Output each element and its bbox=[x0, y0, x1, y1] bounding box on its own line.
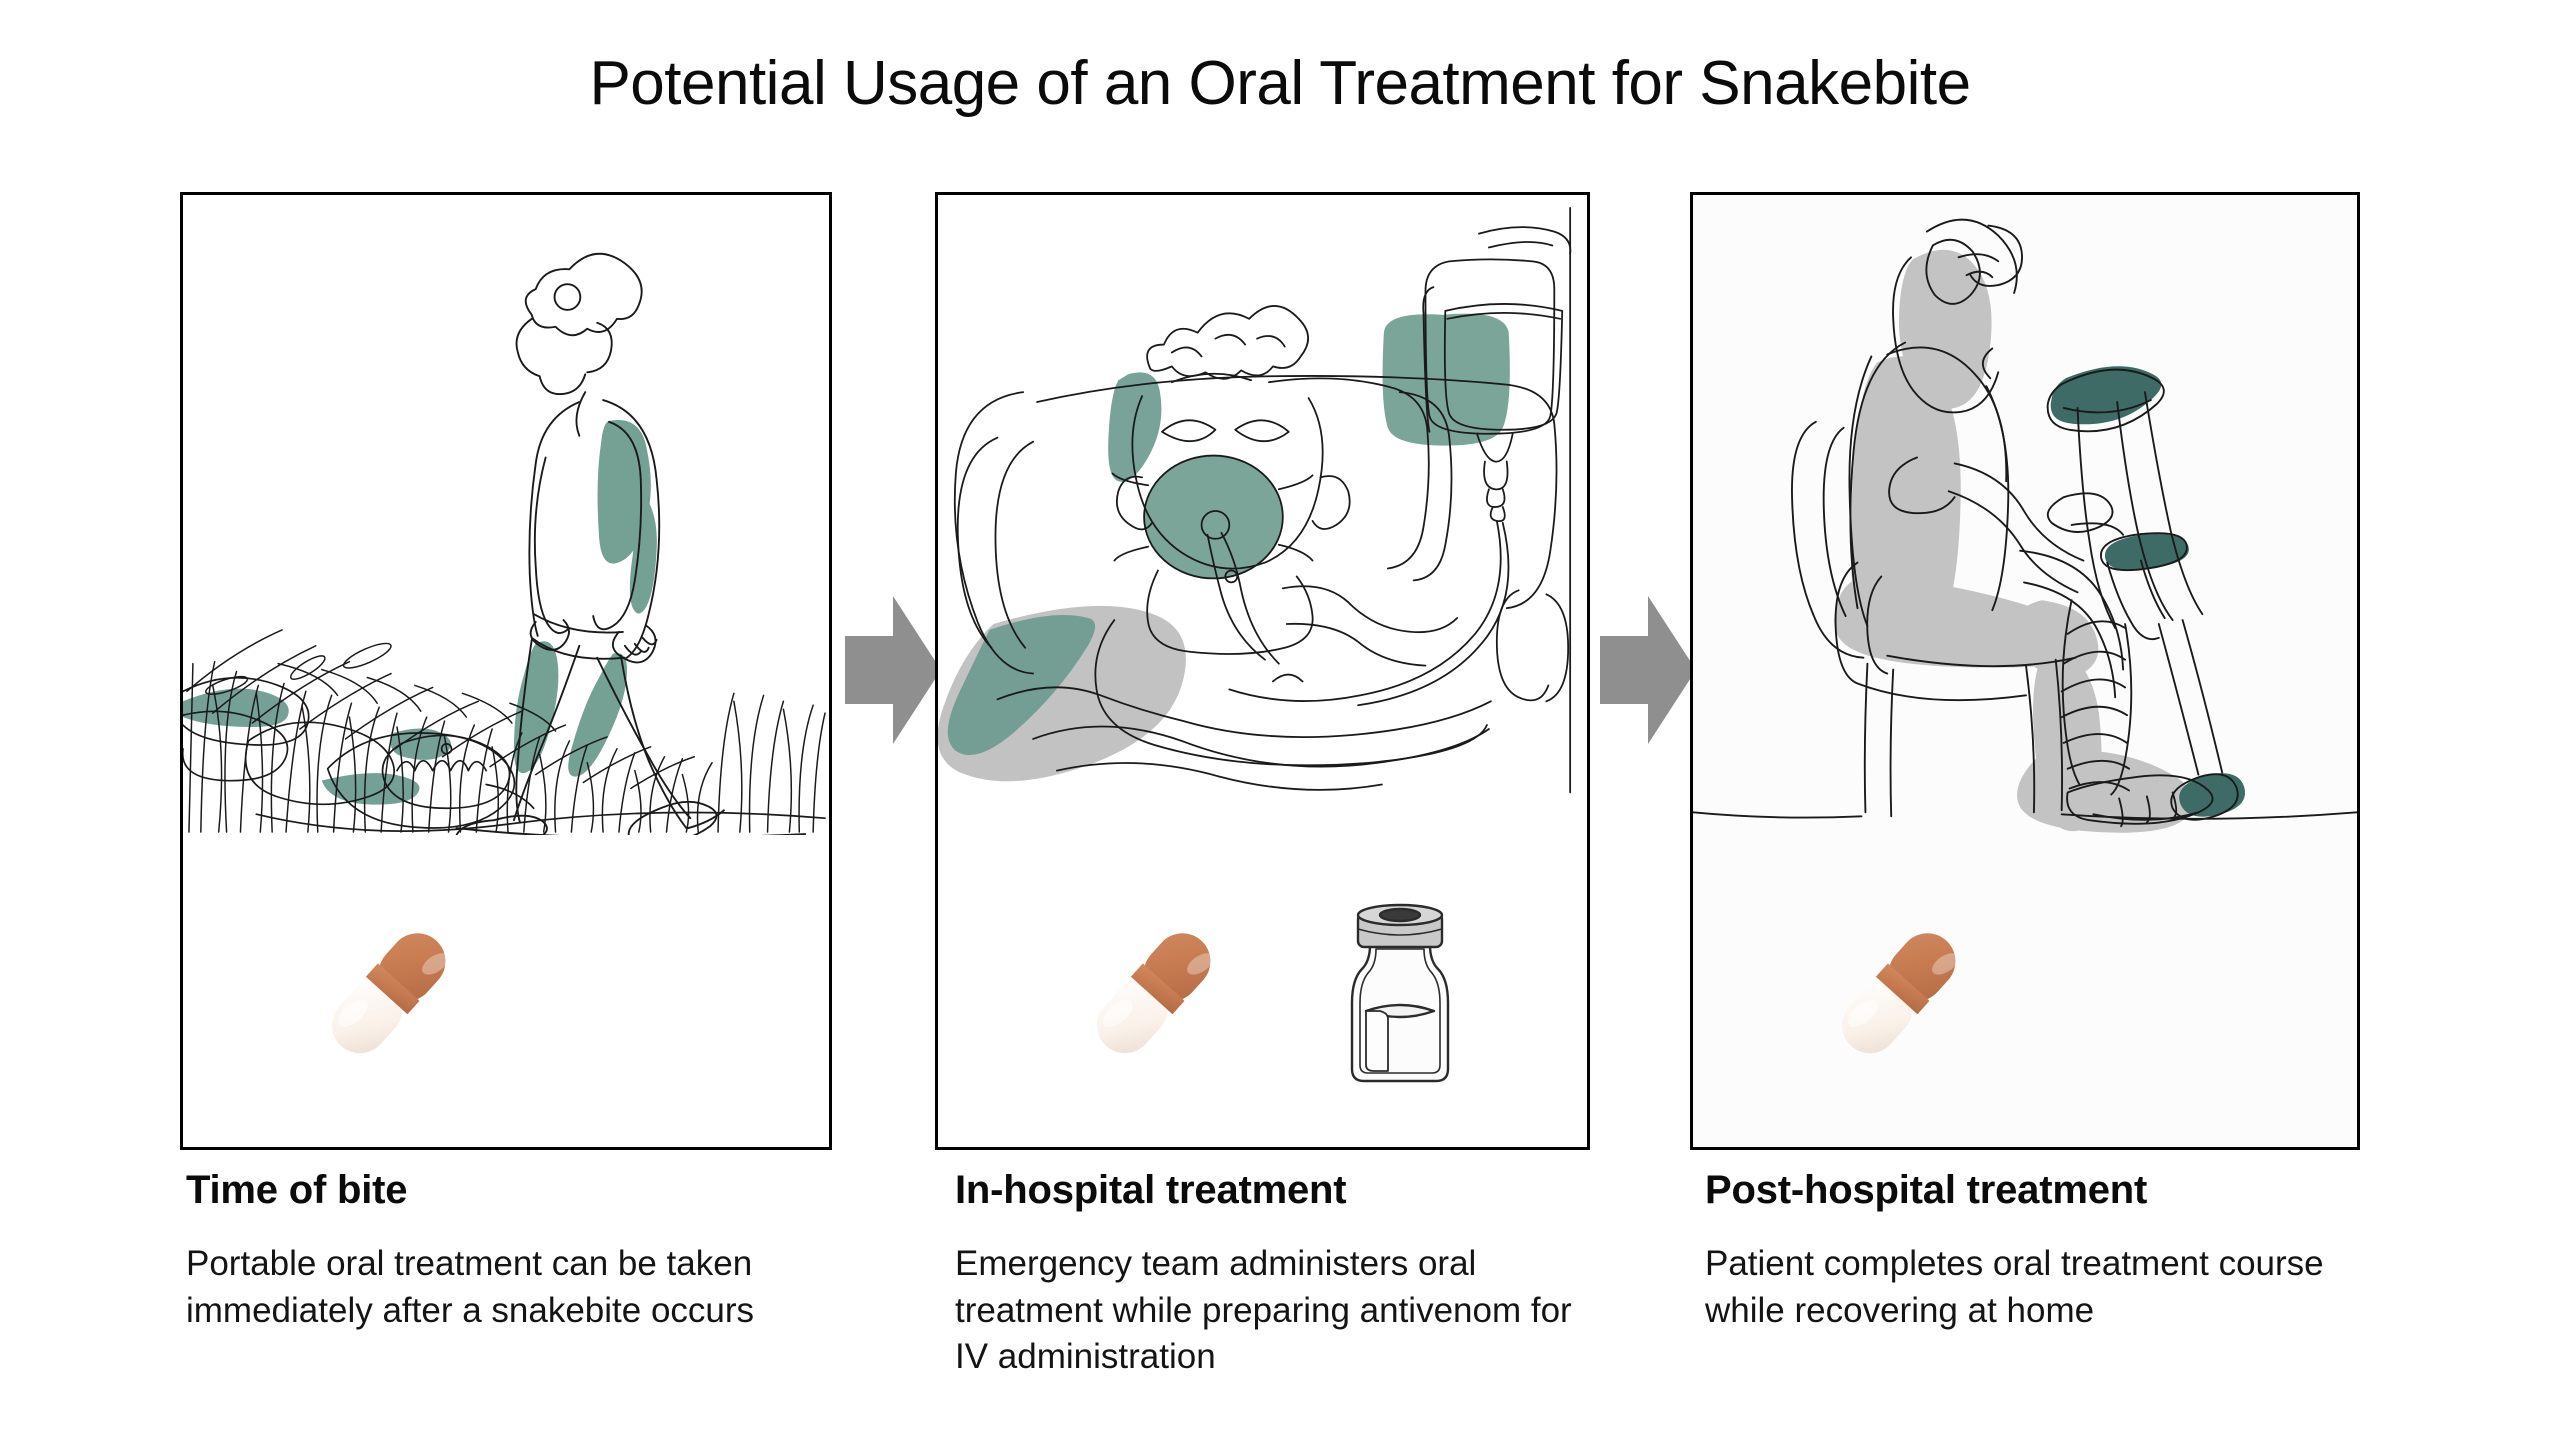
panel-post-hospital-treatment bbox=[1690, 192, 2360, 1150]
caption-body: Emergency team administers oral treatmen… bbox=[955, 1241, 1595, 1381]
caption-body: Portable oral treatment can be taken imm… bbox=[186, 1241, 806, 1334]
arrow-right-icon-1 bbox=[845, 596, 941, 744]
oral-capsule-icon bbox=[313, 912, 463, 1077]
caption-time-of-bite: Time of bite Portable oral treatment can… bbox=[186, 1168, 806, 1334]
meds-row-panel-1 bbox=[183, 835, 832, 1150]
antivenom-vial-icon bbox=[1340, 899, 1460, 1089]
caption-heading: Post-hospital treatment bbox=[1705, 1168, 2365, 1213]
scene-man-walking-in-grass-with-snake bbox=[183, 195, 829, 835]
panel-in-hospital-treatment bbox=[935, 192, 1590, 1150]
oral-capsule-icon bbox=[1078, 912, 1228, 1077]
arrow-right-icon-2 bbox=[1600, 596, 1696, 744]
scene-patient-in-hospital-bed bbox=[938, 195, 1587, 835]
caption-heading: Time of bite bbox=[186, 1168, 806, 1213]
panel-time-of-bite bbox=[180, 192, 832, 1150]
caption-heading: In-hospital treatment bbox=[955, 1168, 1595, 1213]
teal-and-grey-fills bbox=[938, 314, 1510, 782]
caption-body: Patient completes oral treatment course … bbox=[1705, 1241, 2365, 1334]
meds-row-panel-3 bbox=[1693, 835, 2360, 1150]
caption-post-hospital-treatment: Post-hospital treatment Patient complete… bbox=[1705, 1168, 2365, 1334]
scene-seated-patient-with-crutch bbox=[1693, 195, 2357, 835]
caption-in-hospital-treatment: In-hospital treatment Emergency team adm… bbox=[955, 1168, 1595, 1381]
meds-row-panel-2 bbox=[938, 835, 1590, 1150]
oral-capsule-icon bbox=[1823, 912, 1973, 1077]
